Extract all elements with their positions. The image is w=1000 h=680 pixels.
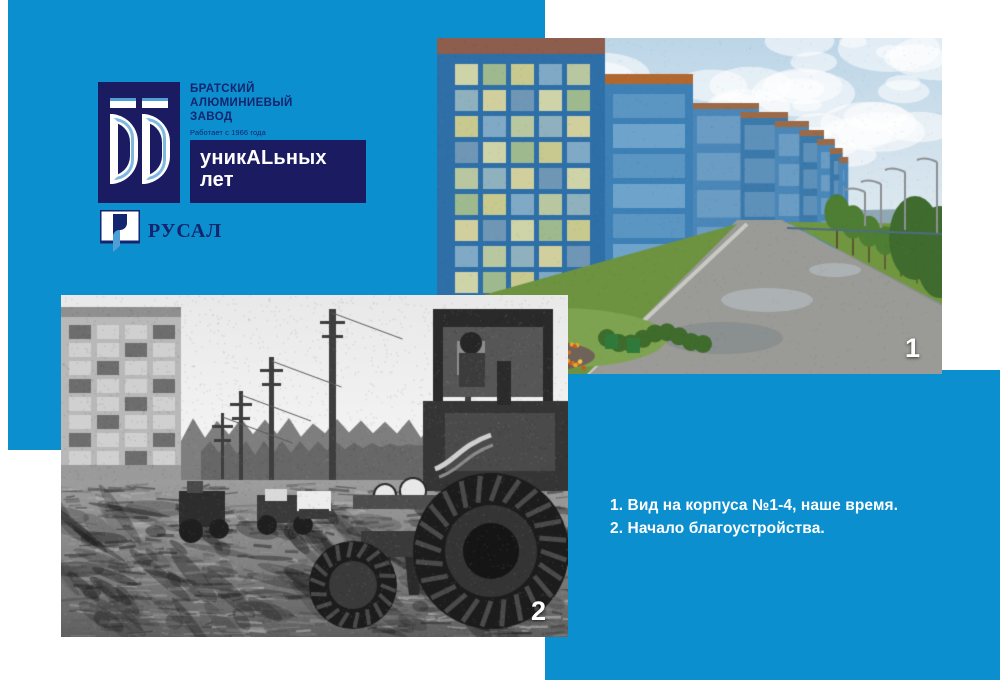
company-line-1: БРАТСКИЙ	[190, 82, 366, 96]
badge-line-2: лет	[200, 169, 366, 191]
company-line-2: АЛЮМИНИЕВЫЙ	[190, 96, 366, 110]
digit-five-first-icon	[110, 98, 138, 184]
caption-line-1: 1. Вид на корпуса №1-4, наше время.	[610, 494, 970, 517]
photo-2-number-badge: 2	[531, 596, 546, 627]
fifty-five-mark-icon	[98, 82, 180, 203]
anniversary-logo: БРАТСКИЙ АЛЮМИНИЕВЫЙ ЗАВОД Работает с 19…	[98, 82, 366, 207]
five-top-bar	[142, 98, 168, 108]
rusal-square-mark-icon	[100, 210, 140, 252]
rusal-wordmark: РУСАЛ	[148, 220, 222, 243]
company-line-3: ЗАВОД	[190, 110, 366, 124]
five-top-bar	[110, 98, 136, 108]
background-white-left-edge	[0, 81, 8, 680]
photo-captions: 1. Вид на корпуса №1-4, наше время. 2. Н…	[610, 494, 970, 540]
photo-2-image	[61, 295, 568, 637]
badge-line-1: уникALьных	[200, 147, 366, 169]
photo-1-number-badge: 1	[905, 333, 920, 364]
rusal-logo: РУСАЛ	[100, 210, 215, 256]
presentation-slide: БРАТСКИЙ АЛЮМИНИЕВЫЙ ЗАВОД Работает с 19…	[0, 0, 1000, 680]
background-block-middle	[545, 370, 1000, 450]
five-bowl	[142, 114, 170, 184]
five-bowl	[110, 114, 138, 184]
company-name-block: БРАТСКИЙ АЛЮМИНИЕВЫЙ ЗАВОД Работает с 19…	[190, 82, 366, 138]
caption-line-2: 2. Начало благоустройства.	[610, 517, 970, 540]
company-since-text: Работает с 1966 года	[190, 127, 366, 138]
digit-five-second-icon	[142, 98, 170, 184]
anniversary-badge: уникALьных лет	[190, 140, 366, 203]
photo-historical-construction: 2	[61, 295, 568, 637]
